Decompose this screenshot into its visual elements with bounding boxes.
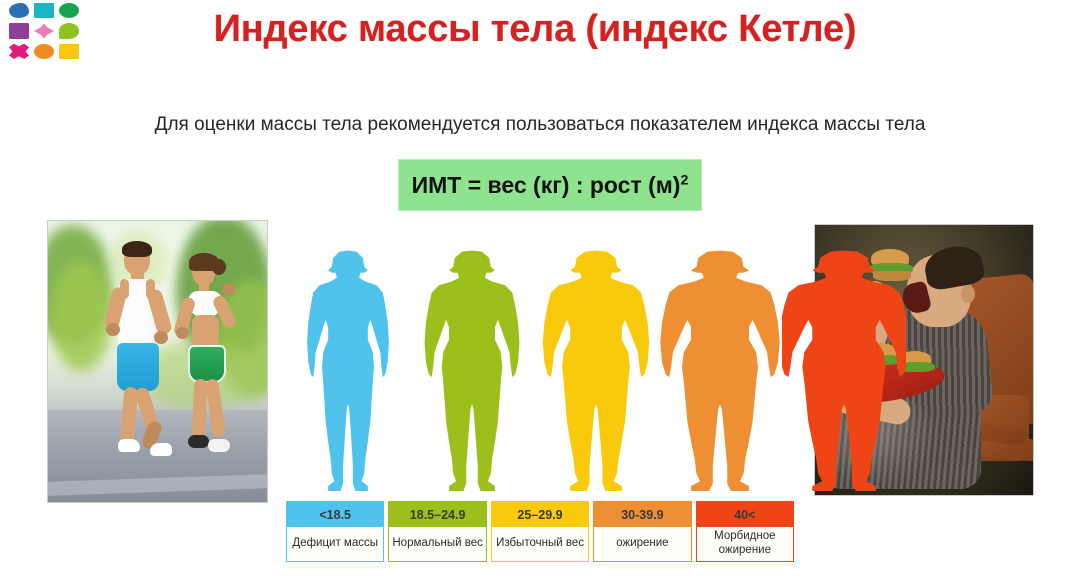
legend-range-3: 25–29.9 xyxy=(492,502,588,527)
logo-tile-blue-blob-shape xyxy=(9,3,29,18)
photo-fit-couple-jogging xyxy=(47,220,268,503)
logo-tile-lime-leaf xyxy=(58,22,80,39)
silhouette-shape-Дефицит массы xyxy=(286,248,410,496)
logo-tile-yellow-square-shape xyxy=(59,44,79,59)
bmi-formula-text: ИМТ = вес (кг) : рост (м)2 xyxy=(412,172,689,199)
logo-tile-green-circle xyxy=(58,2,80,19)
legend-cell-1[interactable]: <18.5Дефицит массы xyxy=(286,501,384,562)
bmi-silhouette-1 xyxy=(286,248,410,496)
bmi-legend-table: <18.5Дефицит массы18.5–24.9Нормальный ве… xyxy=(286,501,794,562)
legend-cell-5[interactable]: 40<Морбидное ожирение xyxy=(696,501,794,562)
logo-tile-yellow-square xyxy=(58,43,80,60)
logo-tile-magenta-cross-shape xyxy=(9,44,29,59)
bmi-formula-box: ИМТ = вес (кг) : рост (м)2 xyxy=(398,159,702,211)
silhouette-shape-Избыточный вес xyxy=(534,248,658,496)
logo-tile-pink-quatrefoil-shape xyxy=(34,23,54,38)
slide-canvas: Индекс массы тела (индекс Кетле) Для оце… xyxy=(0,0,1080,576)
legend-label-4: ожирение xyxy=(594,527,690,561)
legend-cell-3[interactable]: 25–29.9Избыточный вес xyxy=(491,501,589,562)
legend-cell-2[interactable]: 18.5–24.9Нормальный вес xyxy=(388,501,486,562)
bmi-formula-exponent: 2 xyxy=(680,172,688,188)
logo-tile-blue-blob xyxy=(8,2,30,19)
legend-cell-4[interactable]: 30-39.9ожирение xyxy=(593,501,691,562)
legend-label-5: Морбидное ожирение xyxy=(697,527,793,561)
legend-range-2: 18.5–24.9 xyxy=(389,502,485,527)
legend-label-1: Дефицит массы xyxy=(287,527,383,561)
bmi-silhouette-2 xyxy=(410,248,534,496)
bmi-silhouette-row xyxy=(286,248,794,496)
silhouette-shape-ожирение xyxy=(658,248,782,496)
silhouette-shape-Нормальный вес xyxy=(410,248,534,496)
subtitle-text: Для оценки массы тела рекомендуется поль… xyxy=(0,114,1080,136)
logo-tile-teal-square xyxy=(33,2,55,19)
logo-tile-orange-circle-shape xyxy=(34,44,54,59)
bmi-silhouette-5 xyxy=(782,248,906,496)
legend-label-3: Избыточный вес xyxy=(492,527,588,561)
legend-range-5: 40< xyxy=(697,502,793,527)
logo-tile-teal-square-shape xyxy=(34,3,54,18)
logo-tile-lime-leaf-shape xyxy=(59,23,79,38)
bmi-silhouette-3 xyxy=(534,248,658,496)
logo-tile-orange-circle xyxy=(33,43,55,60)
bmi-silhouette-4 xyxy=(658,248,782,496)
logo-tile-purple-square-shape xyxy=(9,23,29,38)
organization-logo xyxy=(8,2,80,60)
logo-tile-purple-square xyxy=(8,22,30,39)
legend-range-1: <18.5 xyxy=(287,502,383,527)
page-title: Индекс массы тела (индекс Кетле) xyxy=(120,8,950,51)
legend-label-2: Нормальный вес xyxy=(389,527,485,561)
logo-tile-green-circle-shape xyxy=(59,3,79,18)
legend-range-4: 30-39.9 xyxy=(594,502,690,527)
bmi-formula-lead: ИМТ = вес (кг) : рост (м) xyxy=(412,172,681,198)
logo-tile-pink-quatrefoil xyxy=(33,22,55,39)
logo-tile-magenta-cross xyxy=(8,43,30,60)
silhouette-shape-Морбидное ожирение xyxy=(782,248,906,496)
